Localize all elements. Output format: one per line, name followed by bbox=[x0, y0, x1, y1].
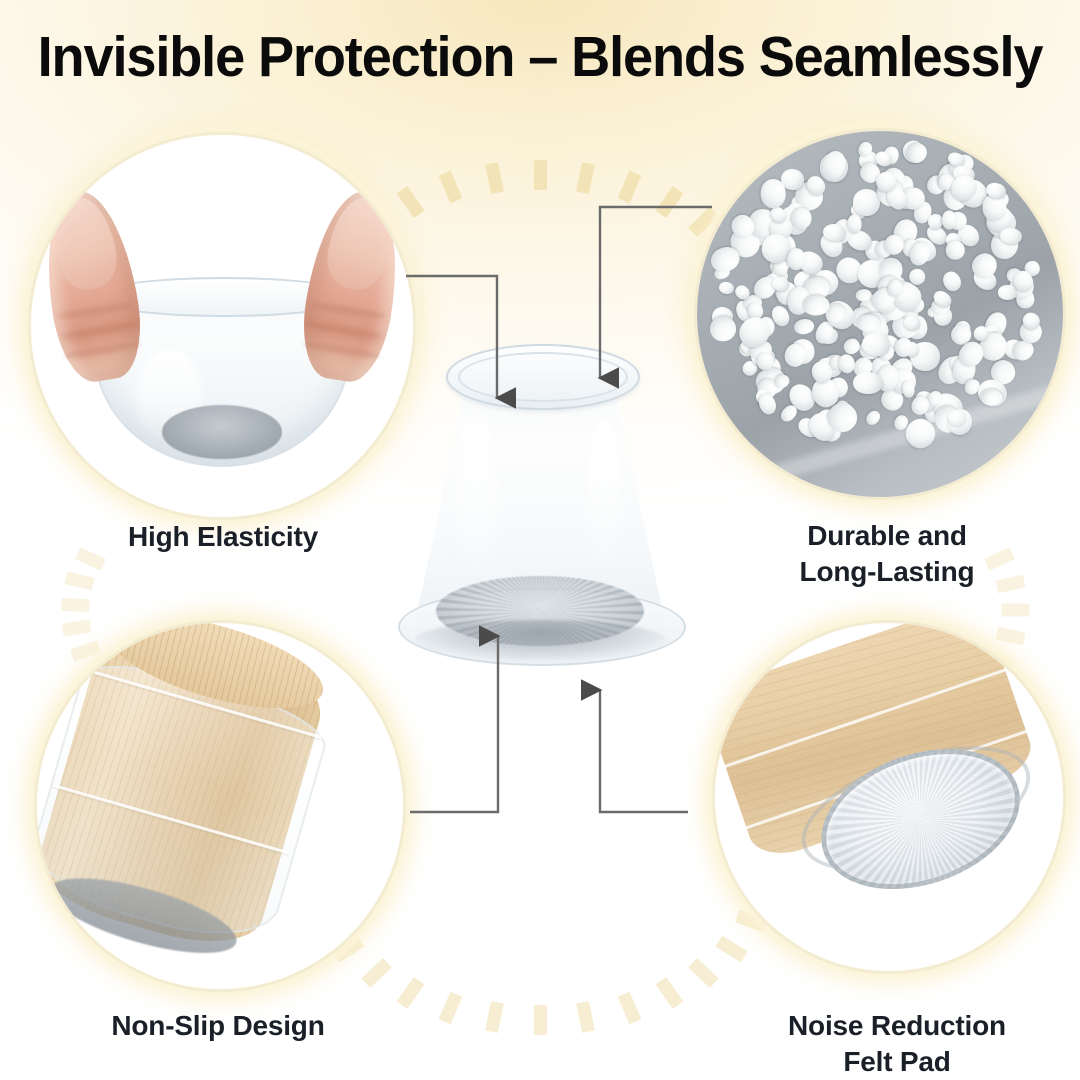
wooden-leg-felt-underside bbox=[712, 620, 1062, 930]
cup-felt-edge bbox=[414, 620, 666, 660]
resin-pellet bbox=[942, 211, 956, 230]
cup-felt-pad bbox=[162, 405, 283, 459]
resin-pellet bbox=[947, 408, 968, 427]
feature-image-noise-reduction-felt-pad bbox=[712, 620, 1066, 974]
arc-dash bbox=[534, 160, 547, 190]
label-line: Durable and bbox=[742, 518, 1032, 554]
cup-gloss-left bbox=[454, 416, 498, 586]
wooden-leg-with-cover bbox=[34, 620, 334, 959]
page-title: Invisible Protection – Blends Seamlessly bbox=[27, 28, 1053, 88]
resin-pellet bbox=[979, 389, 1002, 406]
resin-pellet bbox=[718, 281, 735, 296]
arc-dash bbox=[617, 991, 641, 1024]
resin-pellet bbox=[793, 318, 815, 336]
label-line: Noise Reduction bbox=[752, 1008, 1042, 1044]
feature-label-high-elasticity: High Elasticity bbox=[58, 519, 388, 555]
arc-dash bbox=[65, 572, 95, 591]
arc-dash bbox=[439, 991, 463, 1024]
resin-pellet-field bbox=[697, 131, 1063, 497]
arc-dash bbox=[485, 162, 504, 194]
infographic-canvas: Invisible Protection – Blends Seamlessly bbox=[0, 0, 1080, 1080]
arc-dash bbox=[1001, 604, 1029, 617]
resin-pellet bbox=[901, 380, 915, 398]
resin-pellet bbox=[709, 315, 736, 342]
label-line: Felt Pad bbox=[752, 1044, 1042, 1080]
cup-gloss-right bbox=[586, 420, 622, 580]
label-line: High Elasticity bbox=[58, 519, 388, 555]
label-line: Non-Slip Design bbox=[48, 1008, 388, 1044]
arc-dash bbox=[655, 186, 683, 218]
feature-label-durable-long-lasting: Durable and Long-Lasting bbox=[742, 518, 1032, 590]
feature-label-non-slip-design: Non-Slip Design bbox=[48, 1008, 388, 1044]
fingernail bbox=[49, 194, 121, 294]
resin-pellet bbox=[892, 413, 910, 432]
arc-dash bbox=[576, 162, 595, 194]
fingernail bbox=[323, 194, 395, 294]
label-line: Long-Lasting bbox=[742, 554, 1032, 590]
resin-pellet bbox=[862, 333, 890, 356]
arc-dash bbox=[576, 1001, 595, 1033]
finger-crease bbox=[60, 320, 138, 340]
finger-crease bbox=[309, 301, 387, 321]
arc-dash bbox=[61, 598, 90, 612]
resin-pellet bbox=[864, 409, 882, 428]
arc-dash bbox=[439, 171, 463, 204]
finger-crease bbox=[63, 340, 141, 360]
resin-pellet bbox=[761, 179, 786, 208]
arc-dash bbox=[485, 1001, 504, 1033]
resin-pellet bbox=[853, 372, 883, 394]
feature-image-high-elasticity bbox=[28, 132, 416, 520]
feature-image-non-slip-design bbox=[34, 620, 406, 992]
resin-pellet bbox=[947, 241, 966, 260]
finger-crease bbox=[303, 340, 381, 360]
center-product-silicone-cap bbox=[390, 330, 690, 710]
finger-left bbox=[35, 185, 150, 386]
arc-dash bbox=[655, 977, 683, 1009]
cup-rim-inner bbox=[458, 352, 628, 402]
arc-dash bbox=[534, 1005, 547, 1035]
arc-dash bbox=[617, 171, 641, 204]
feature-label-noise-reduction-felt-pad: Noise Reduction Felt Pad bbox=[752, 1008, 1042, 1080]
feature-image-durable-long-lasting bbox=[694, 128, 1066, 500]
finger-crease bbox=[306, 320, 384, 340]
resin-pellet bbox=[998, 284, 1017, 299]
finger-crease bbox=[57, 301, 135, 321]
